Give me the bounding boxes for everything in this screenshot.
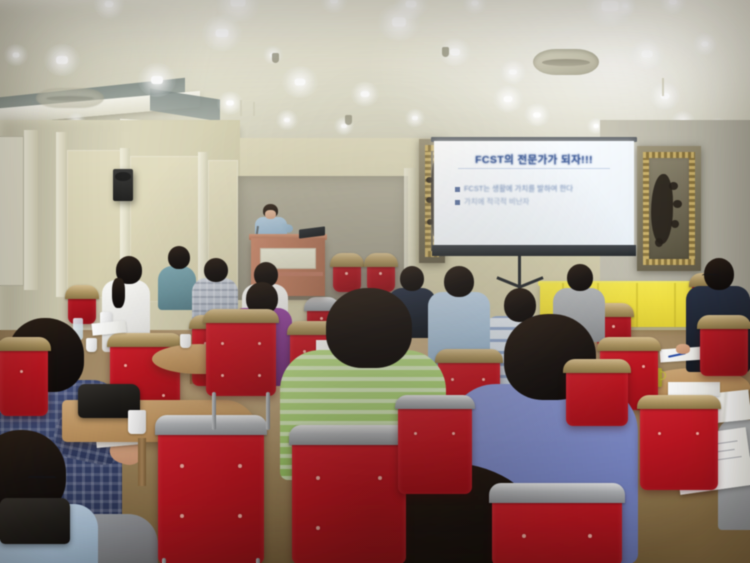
chair [398, 398, 472, 494]
document [668, 382, 720, 396]
chair [566, 362, 628, 426]
slide-bullet-text: FCST는 생활에 가치를 발하여 한다 [464, 185, 573, 194]
dragon-motif-icon [426, 177, 433, 183]
person-head [204, 258, 228, 282]
chair [700, 318, 748, 376]
eyeglasses-icon [28, 476, 56, 482]
slide-title: FCST의 전문가가 되자!!! [434, 152, 634, 167]
person-head [326, 288, 412, 368]
chair [367, 256, 395, 292]
slide-bullet-item: FCST는 생활에 가치를 발하여 한다 [455, 185, 622, 194]
ceiling-sensor-icon [345, 115, 352, 125]
wall-pilaster [56, 132, 67, 297]
person-head [168, 246, 190, 269]
cloth-fold [636, 283, 638, 327]
dragon-motif-icon [673, 200, 682, 208]
chair [292, 428, 406, 563]
bullet-square-icon [455, 187, 460, 192]
ceiling-sensor-icon [272, 53, 279, 63]
seminar-room-photograph: FCST의 전문가가 되자!!! FCST는 생활에 가치를 발하여 한다 가치… [0, 0, 750, 563]
decor-plaque-right [637, 146, 701, 271]
person-head [567, 264, 593, 291]
paper-cup [180, 334, 191, 348]
chair [333, 256, 361, 292]
paper-cup [86, 338, 97, 352]
slide-bullet-item: 가치에 적극적 비난자 [455, 198, 622, 207]
dragon-motif-icon [669, 182, 678, 190]
eyeglasses-icon [702, 274, 718, 279]
dragon-motif-icon [655, 238, 663, 247]
bullet-square-icon [455, 200, 460, 205]
ac-cassette-right [533, 49, 599, 75]
presentation-slide: FCST의 전문가가 되자!!! FCST는 생활에 가치를 발하여 한다 가치… [434, 141, 634, 249]
chair [158, 418, 264, 563]
chair [640, 398, 718, 490]
slide-bullet-list: FCST는 생활에 가치를 발하여 한다 가치에 적극적 비난자 [455, 185, 622, 210]
dragon-motif-icon [426, 197, 433, 203]
presenter-face [265, 210, 276, 219]
person-head [444, 266, 474, 297]
screen-bottom-bar [432, 245, 636, 256]
ceiling-wire [240, 100, 242, 116]
ceiling-wire [662, 78, 664, 96]
chair [206, 312, 276, 396]
ceiling-wire [253, 102, 255, 116]
person-head [400, 266, 424, 291]
dragon-motif-icon [427, 219, 433, 225]
wall-speaker-icon [113, 169, 133, 201]
table-leg [138, 438, 146, 486]
person-hand [676, 344, 690, 354]
ceiling-sensor-icon [442, 47, 449, 57]
left-door [0, 136, 24, 286]
slide-bullet-text: 가치에 적극적 비난자 [464, 198, 529, 207]
chair [492, 486, 622, 563]
person-ponytail [112, 278, 125, 308]
cloth-fold [674, 283, 676, 327]
dragon-motif-icon [671, 220, 679, 228]
wall-pilaster [24, 130, 38, 290]
person-torso [158, 266, 196, 310]
slide-title-underline [458, 168, 610, 169]
black-bag [0, 498, 70, 544]
paper-cup [128, 410, 146, 434]
chair [0, 340, 48, 416]
projection-screen: FCST의 전문가가 되자!!! FCST는 생활에 가치를 발하여 한다 가치… [434, 141, 634, 265]
ac-cassette-left [36, 88, 104, 108]
screen-surface: FCST의 전문가가 되자!!! FCST는 생활에 가치를 발하여 한다 가치… [434, 141, 634, 249]
